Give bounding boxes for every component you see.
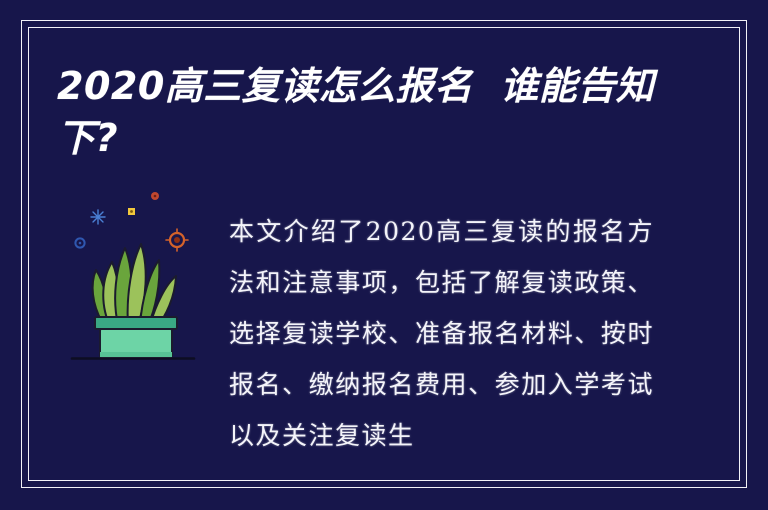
yellow-dot-icon [128,208,135,215]
blue-ring-icon [75,238,84,247]
red-dot-icon [151,192,159,200]
snowflake-sparkle-icon [91,210,105,224]
potted-plant-illustration [62,188,212,373]
poster-canvas: 2020高三复读怎么报名 谁能告知下? [0,0,768,510]
body-paragraph: 本文介绍了2020高三复读的报名方法和注意事项，包括了解复读政策、选择复读学校、… [229,206,654,461]
plant-leaves [93,244,176,325]
orange-flower-icon [166,229,188,251]
plant-pot [95,317,177,357]
page-title: 2020高三复读怎么报名 谁能告知下? [57,60,697,164]
